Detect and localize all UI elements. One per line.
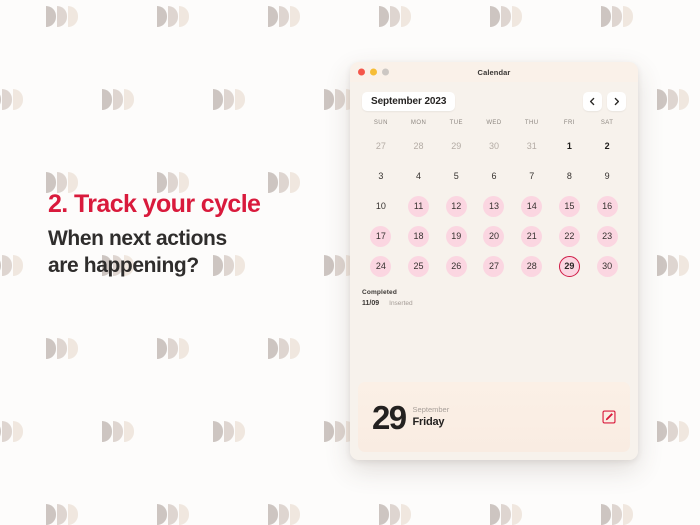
pattern-motif: [268, 504, 300, 525]
window-controls[interactable]: [358, 69, 389, 76]
calendar-day-24[interactable]: 24: [370, 256, 391, 277]
pattern-motif: [46, 504, 78, 525]
pattern-motif: [490, 6, 522, 27]
window-title: Calendar: [350, 68, 638, 77]
calendar-day-10[interactable]: 10: [370, 196, 391, 217]
calendar-day-2[interactable]: 2: [597, 136, 618, 157]
calendar-day-4[interactable]: 4: [408, 166, 429, 187]
pattern-motif: [46, 338, 78, 359]
calendar-day-3[interactable]: 3: [370, 166, 391, 187]
chevron-left-icon: [588, 97, 597, 106]
calendar-day-28[interactable]: 28: [408, 136, 429, 157]
month-nav: [583, 92, 626, 111]
selected-date-text: September Friday: [413, 406, 450, 427]
pattern-motif: [102, 421, 134, 442]
calendar-day-17[interactable]: 17: [370, 226, 391, 247]
pattern-motif: [379, 6, 411, 27]
pattern-motif: [601, 504, 633, 525]
calendar-day-15[interactable]: 15: [559, 196, 580, 217]
selected-weekday-label: Friday: [413, 416, 450, 428]
pattern-motif: [157, 504, 189, 525]
subtitle-line-2: are happening?: [48, 254, 199, 277]
pattern-motif: [213, 421, 245, 442]
calendar-window: Calendar September 2023 SUNMONTUEWEDTHUF…: [350, 62, 638, 460]
completed-list: 11/09Inserted: [362, 300, 626, 307]
calendar-day-11[interactable]: 11: [408, 196, 429, 217]
calendar-day-5[interactable]: 5: [446, 166, 467, 187]
calendar-day-23[interactable]: 23: [597, 226, 618, 247]
weekday-label-sun: SUN: [362, 120, 400, 126]
calendar-day-16[interactable]: 16: [597, 196, 618, 217]
window-minimize-button[interactable]: [370, 69, 377, 76]
weekday-header: SUNMONTUEWEDTHUFRISAT: [362, 120, 626, 126]
pattern-motif: [268, 338, 300, 359]
pattern-motif: [379, 504, 411, 525]
pattern-motif: [657, 255, 689, 276]
page-title: 2. Track your cycle: [48, 190, 328, 218]
pattern-motif: [0, 255, 23, 276]
chevron-right-icon: [612, 97, 621, 106]
window-zoom-button[interactable]: [382, 69, 389, 76]
completed-entry-date: 11/09: [362, 300, 379, 307]
window-body: September 2023 SUNMONTUEWEDTHUFRISAT 272…: [350, 82, 638, 460]
pattern-motif: [46, 6, 78, 27]
calendar-day-8[interactable]: 8: [559, 166, 580, 187]
window-titlebar: Calendar: [350, 62, 638, 82]
completed-entry-label: Inserted: [389, 300, 413, 307]
pattern-motif: [0, 89, 23, 110]
calendar-day-25[interactable]: 25: [408, 256, 429, 277]
pattern-motif: [657, 421, 689, 442]
completed-entry: 11/09Inserted: [362, 300, 626, 307]
pattern-motif: [490, 504, 522, 525]
calendar-day-21[interactable]: 21: [521, 226, 542, 247]
calendar-day-29-selected[interactable]: 29: [559, 256, 580, 277]
calendar-day-31[interactable]: 31: [521, 136, 542, 157]
calendar-day-grid[interactable]: 2728293031123456789101112131415161718192…: [362, 131, 626, 281]
pattern-motif: [157, 338, 189, 359]
pattern-motif: [601, 6, 633, 27]
calendar-day-30[interactable]: 30: [483, 136, 504, 157]
page-subtitle: When next actions are happening?: [48, 226, 328, 280]
weekday-label-thu: THU: [513, 120, 551, 126]
calendar-day-1[interactable]: 1: [559, 136, 580, 157]
subtitle-line-1: When next actions: [48, 227, 227, 250]
calendar-day-26[interactable]: 26: [446, 256, 467, 277]
calendar-day-6[interactable]: 6: [483, 166, 504, 187]
calendar-day-19[interactable]: 19: [446, 226, 467, 247]
completed-section: Completed 11/09Inserted: [362, 289, 626, 307]
calendar-day-9[interactable]: 9: [597, 166, 618, 187]
slide-copy: 2. Track your cycle When next actions ar…: [48, 190, 328, 280]
weekday-label-tue: TUE: [437, 120, 475, 126]
pattern-motif: [0, 421, 23, 442]
prev-month-button[interactable]: [583, 92, 602, 111]
calendar-day-13[interactable]: 13: [483, 196, 504, 217]
calendar-day-22[interactable]: 22: [559, 226, 580, 247]
calendar-day-29[interactable]: 29: [446, 136, 467, 157]
calendar-day-20[interactable]: 20: [483, 226, 504, 247]
pattern-motif: [157, 6, 189, 27]
calendar-day-27[interactable]: 27: [370, 136, 391, 157]
pattern-motif: [102, 89, 134, 110]
calendar-day-12[interactable]: 12: [446, 196, 467, 217]
weekday-label-fri: FRI: [551, 120, 589, 126]
month-selector[interactable]: September 2023: [362, 92, 455, 111]
selected-date-card[interactable]: 29 September Friday: [358, 382, 630, 452]
selected-day-number: 29: [372, 401, 406, 434]
weekday-label-wed: WED: [475, 120, 513, 126]
weekday-label-mon: MON: [400, 120, 438, 126]
weekday-label-sat: SAT: [588, 120, 626, 126]
calendar-day-14[interactable]: 14: [521, 196, 542, 217]
calendar-day-27[interactable]: 27: [483, 256, 504, 277]
calendar-day-30[interactable]: 30: [597, 256, 618, 277]
calendar-day-18[interactable]: 18: [408, 226, 429, 247]
calendar-toolbar: September 2023: [362, 92, 626, 111]
completed-title: Completed: [362, 289, 626, 296]
window-close-button[interactable]: [358, 69, 365, 76]
pattern-motif: [213, 89, 245, 110]
selected-date-info: 29 September Friday: [372, 401, 449, 434]
edit-square-icon[interactable]: [602, 410, 616, 424]
pattern-motif: [657, 89, 689, 110]
calendar-day-28[interactable]: 28: [521, 256, 542, 277]
next-month-button[interactable]: [607, 92, 626, 111]
calendar-day-7[interactable]: 7: [521, 166, 542, 187]
pattern-motif: [268, 6, 300, 27]
selected-month-label: September: [413, 406, 450, 414]
